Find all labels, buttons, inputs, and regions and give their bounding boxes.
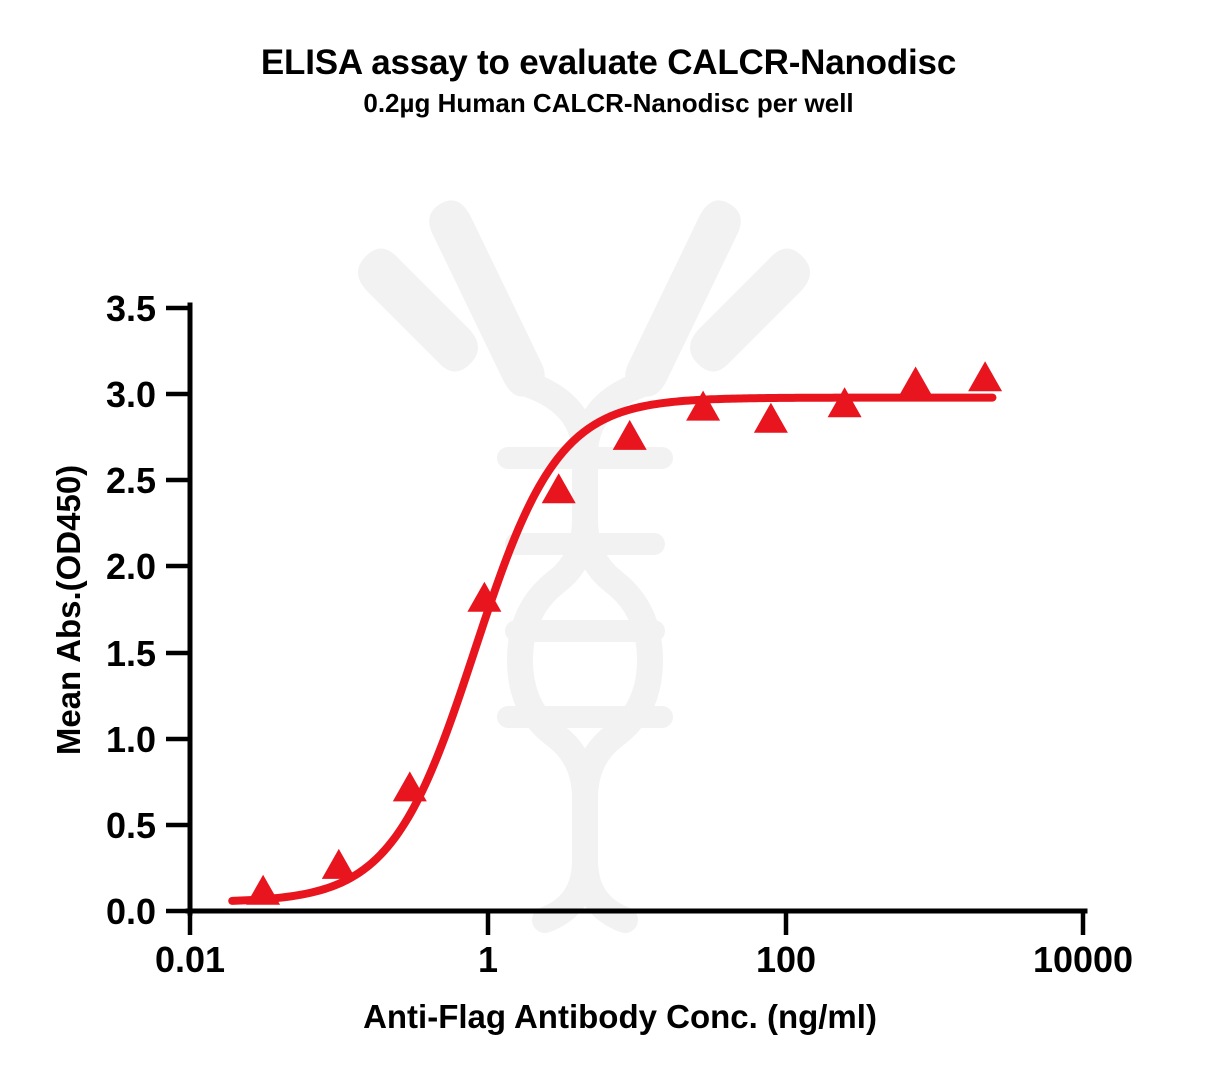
x-tick-label-0.01: 0.01	[155, 939, 225, 980]
x-axis-title: Anti-Flag Antibody Conc. (ng/ml)	[363, 998, 877, 1035]
y-tick-label-0.0: 0.0	[106, 891, 156, 932]
data-point-marker	[968, 361, 1002, 391]
x-tick-label-1: 1	[478, 939, 498, 980]
y-tick-label-0.5: 0.5	[106, 805, 156, 846]
data-point-marker	[246, 875, 280, 905]
chart-figure: ELISA assay to evaluate CALCR-Nanodisc 0…	[0, 0, 1217, 1079]
data-point-marker	[828, 387, 862, 417]
y-tick-label-1.0: 1.0	[106, 719, 156, 760]
y-tick-label-3.5: 3.5	[106, 288, 156, 329]
fit-curve	[232, 398, 992, 901]
y-tick-label-2.5: 2.5	[106, 460, 156, 501]
data-point-marker	[899, 367, 933, 397]
y-axis-title: Mean Abs.(OD450)	[50, 465, 87, 755]
plot-canvas: 3.5 3.0 2.5 2.0 1.5 1.0 0.5 0.0 0.01 1 1…	[0, 0, 1217, 1079]
antibody-dna-watermark-icon	[358, 200, 810, 920]
data-point-marker	[322, 849, 356, 879]
data-point-marker	[754, 403, 788, 433]
y-tick-label-2.0: 2.0	[106, 546, 156, 587]
y-tick-label-1.5: 1.5	[106, 633, 156, 674]
y-tick-labels: 3.5 3.0 2.5 2.0 1.5 1.0 0.5 0.0	[106, 288, 156, 932]
data-point-marker	[613, 420, 647, 450]
x-tick-labels: 0.01 1 100 10000	[155, 939, 1133, 980]
x-tick-label-100: 100	[756, 939, 816, 980]
y-tick-label-3.0: 3.0	[106, 374, 156, 415]
x-tick-label-10000: 10000	[1033, 939, 1133, 980]
data-point-marker	[686, 391, 720, 421]
